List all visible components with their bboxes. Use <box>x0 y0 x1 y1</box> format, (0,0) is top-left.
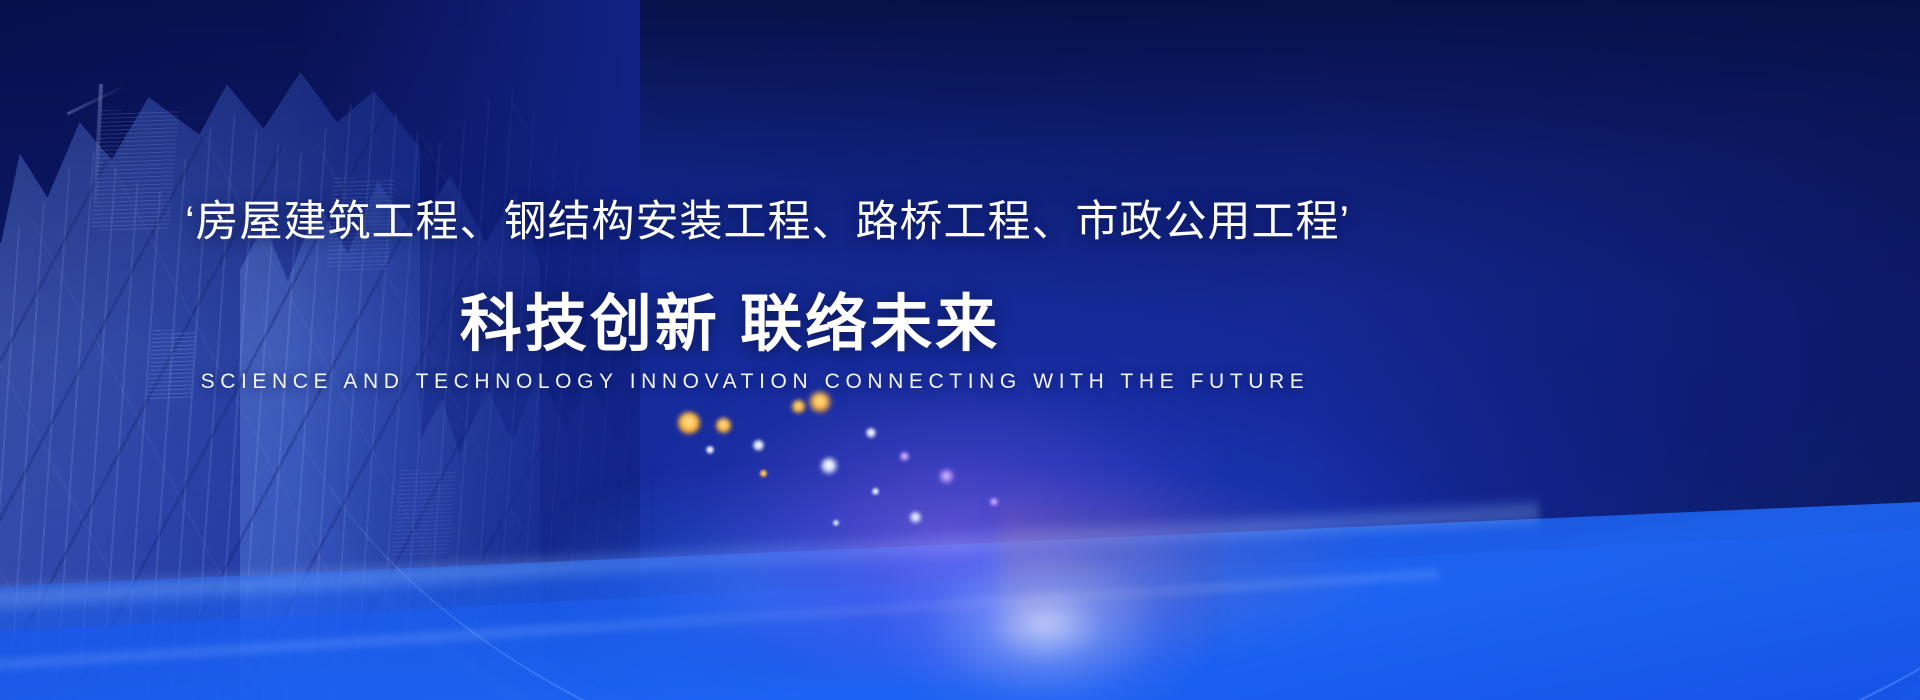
subtitle-english: SCIENCE AND TECHNOLOGY INNOVATION CONNEC… <box>0 370 1510 394</box>
headline-secondary: 科技创新 联络未来 <box>0 291 1460 359</box>
banner-copy: ‘房屋建筑工程、钢结构安装工程、路桥工程、市政公用工程’ 科技创新 联络未来 S… <box>0 0 1920 700</box>
headline-primary: ‘房屋建筑工程、钢结构安装工程、路桥工程、市政公用工程’ <box>0 199 1535 246</box>
promotional-banner: ‘房屋建筑工程、钢结构安装工程、路桥工程、市政公用工程’ 科技创新 联络未来 S… <box>0 0 1920 700</box>
